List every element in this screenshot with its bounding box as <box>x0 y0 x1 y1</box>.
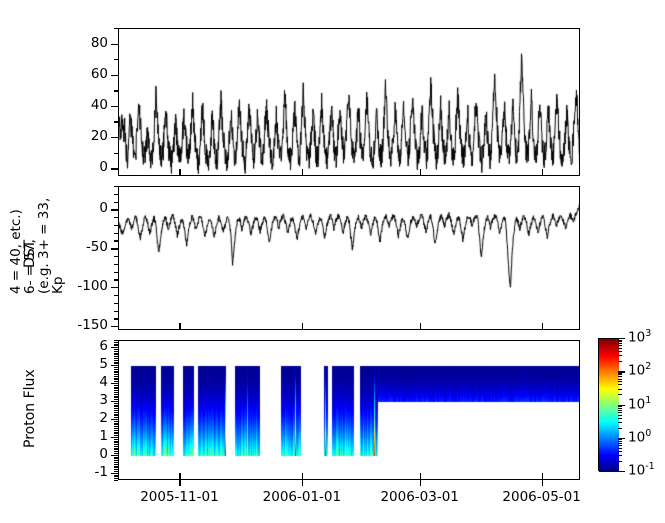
axis-tick-mark <box>618 361 622 362</box>
axis-tick-mark <box>114 233 118 234</box>
y-tick-label: 4 <box>99 374 108 390</box>
axis-tick-mark <box>420 480 421 486</box>
colorbar-tick-label: 103 <box>628 328 651 346</box>
axis-tick-mark <box>302 169 303 176</box>
axis-tick-mark <box>114 59 118 60</box>
axis-tick-mark <box>542 323 543 330</box>
axis-tick-mark <box>618 341 622 342</box>
axis-tick-mark <box>114 379 118 380</box>
axis-tick-mark <box>114 442 118 443</box>
axis-tick-mark <box>618 471 625 472</box>
axis-tick-mark <box>114 426 118 427</box>
axis-tick-mark <box>114 342 118 343</box>
axis-tick-mark <box>114 471 118 472</box>
dst-axis-title: DST <box>22 240 38 268</box>
proton-axis-title: Proton Flux <box>22 369 38 448</box>
axis-tick-mark <box>114 449 118 450</box>
axis-tick-mark <box>114 295 118 296</box>
axis-tick-mark <box>114 256 118 257</box>
y-tick-label: 6 <box>99 338 108 354</box>
axis-tick-mark <box>618 410 622 411</box>
axis-tick-mark <box>114 397 118 398</box>
axis-tick-mark <box>114 439 118 440</box>
colorbar-tick-label: 102 <box>628 361 651 379</box>
axis-tick-mark <box>114 451 118 452</box>
axis-tick-mark <box>114 351 118 352</box>
axis-tick-mark <box>618 389 622 390</box>
axis-tick-mark <box>114 311 118 312</box>
axis-tick-mark <box>114 458 118 459</box>
axis-tick-mark <box>618 348 622 349</box>
axis-tick-mark <box>114 457 118 458</box>
y-tick-label: 0 <box>99 159 108 175</box>
axis-tick-mark <box>114 387 118 388</box>
kp-plot-area <box>118 28 580 176</box>
y-tick-label: 1 <box>99 428 108 444</box>
axis-tick-mark <box>114 279 118 280</box>
axis-tick-mark <box>114 354 118 355</box>
axis-tick-mark <box>111 75 118 76</box>
y-tick-label: 5 <box>99 356 108 372</box>
axis-tick-mark <box>542 480 543 486</box>
axis-tick-mark <box>114 464 118 465</box>
y-tick-label: 2 <box>99 410 108 426</box>
axis-tick-mark <box>114 410 118 411</box>
axis-tick-mark <box>114 340 118 341</box>
axis-tick-mark <box>114 264 118 265</box>
axis-tick-mark <box>618 384 622 385</box>
axis-tick-mark <box>114 412 118 413</box>
axis-tick-mark <box>618 445 622 446</box>
axis-tick-mark <box>618 379 622 380</box>
y-tick-label: 3 <box>99 392 108 408</box>
kp-title-line-1: (e.g. 3+ = 33, <box>36 198 52 294</box>
axis-tick-mark <box>179 480 180 486</box>
axis-tick-mark <box>114 385 118 386</box>
dst-plot-area <box>118 186 580 330</box>
axis-tick-mark <box>114 424 118 425</box>
axis-tick-mark <box>114 417 118 418</box>
axis-tick-mark <box>618 394 622 395</box>
axis-tick-mark <box>618 415 622 416</box>
axis-tick-mark <box>114 318 118 319</box>
axis-tick-mark <box>114 360 118 361</box>
axis-tick-mark <box>114 374 118 375</box>
axis-tick-mark <box>420 169 421 176</box>
axis-tick-mark <box>111 326 118 327</box>
axis-tick-mark <box>302 473 303 480</box>
axis-tick-mark <box>114 121 118 122</box>
axis-tick-mark <box>111 287 118 288</box>
axis-tick-mark <box>114 186 118 187</box>
axis-tick-mark <box>114 480 118 481</box>
axis-tick-mark <box>114 362 118 363</box>
axis-tick-mark <box>114 356 118 357</box>
axis-tick-mark <box>114 372 118 373</box>
axis-tick-mark <box>114 90 118 91</box>
axis-tick-mark <box>114 390 118 391</box>
axis-tick-mark <box>618 373 622 374</box>
axis-tick-mark <box>114 444 118 445</box>
axis-tick-mark <box>114 430 118 431</box>
space-weather-figure: Kp (e.g. 3+ = 33, 6- = 57, 4 = 40, etc.)… <box>0 0 665 523</box>
axis-tick-mark <box>114 453 118 454</box>
axis-tick-mark <box>114 303 118 304</box>
axis-tick-mark <box>111 168 118 169</box>
y-tick-label: -50 <box>86 239 108 255</box>
y-tick-label: 80 <box>91 35 108 51</box>
axis-tick-mark <box>114 399 118 400</box>
axis-tick-mark <box>114 446 118 447</box>
y-tick-label: 0 <box>99 200 108 216</box>
axis-tick-mark <box>114 272 118 273</box>
axis-tick-mark <box>111 106 118 107</box>
axis-tick-mark <box>114 394 118 395</box>
axis-tick-mark <box>111 248 118 249</box>
axis-tick-mark <box>114 421 118 422</box>
axis-tick-mark <box>618 439 622 440</box>
axis-tick-mark <box>114 240 118 241</box>
x-tick-label: 2006-03-01 <box>370 489 470 505</box>
axis-tick-mark <box>114 462 118 463</box>
axis-tick-mark <box>114 441 118 442</box>
axis-tick-mark <box>618 351 622 352</box>
axis-tick-mark <box>618 381 622 382</box>
axis-tick-mark <box>618 461 622 462</box>
axis-tick-mark <box>114 378 118 379</box>
axis-tick-mark <box>618 451 622 452</box>
axis-tick-mark <box>114 353 118 354</box>
y-tick-label: 20 <box>91 128 108 144</box>
axis-tick-mark <box>618 448 622 449</box>
axis-tick-mark <box>114 202 118 203</box>
axis-tick-mark <box>114 153 118 154</box>
axis-tick-mark <box>618 343 622 344</box>
proton-flux-plot-area <box>118 340 580 480</box>
x-tick-label: 2006-01-01 <box>252 489 352 505</box>
axis-tick-mark <box>618 345 622 346</box>
axis-tick-mark <box>114 428 118 429</box>
axis-tick-mark <box>179 169 180 176</box>
axis-tick-mark <box>302 323 303 330</box>
axis-tick-mark <box>542 169 543 176</box>
axis-tick-mark <box>114 349 118 350</box>
axis-tick-mark <box>114 478 118 479</box>
axis-tick-mark <box>114 415 118 416</box>
axis-tick-mark <box>618 355 622 356</box>
axis-tick-mark <box>114 363 118 364</box>
axis-tick-mark <box>111 209 118 210</box>
axis-tick-mark <box>420 323 421 330</box>
colorbar-tick-label: 101 <box>628 395 651 413</box>
axis-tick-mark <box>114 414 118 415</box>
axis-tick-mark <box>114 345 118 346</box>
axis-tick-mark <box>114 225 118 226</box>
axis-tick-mark <box>618 428 622 429</box>
axis-tick-mark <box>114 28 118 29</box>
axis-tick-mark <box>114 369 118 370</box>
axis-tick-mark <box>114 466 118 467</box>
axis-tick-mark <box>618 406 622 407</box>
axis-tick-mark <box>114 408 118 409</box>
axis-tick-mark <box>114 217 118 218</box>
axis-tick-mark <box>114 396 118 397</box>
y-tick-label: -150 <box>77 317 108 333</box>
colorbar-tick-label: 10-1 <box>628 461 655 479</box>
y-tick-label: 40 <box>91 97 108 113</box>
axis-tick-mark <box>618 408 622 409</box>
axis-tick-mark <box>114 469 118 470</box>
axis-tick-mark <box>618 376 622 377</box>
colorbar <box>598 338 618 471</box>
axis-tick-mark <box>618 443 622 444</box>
axis-tick-mark <box>114 405 118 406</box>
axis-tick-mark <box>114 358 118 359</box>
axis-tick-mark <box>114 376 118 377</box>
axis-tick-mark <box>114 367 118 368</box>
axis-tick-mark <box>114 194 118 195</box>
axis-tick-mark <box>302 480 303 486</box>
axis-tick-mark <box>114 433 118 434</box>
y-tick-label: 0 <box>99 446 108 462</box>
axis-tick-mark <box>114 392 118 393</box>
axis-tick-mark <box>114 435 118 436</box>
axis-tick-mark <box>618 422 622 423</box>
axis-tick-mark <box>618 374 622 375</box>
axis-tick-mark <box>114 423 118 424</box>
axis-tick-mark <box>114 403 118 404</box>
axis-tick-mark <box>114 344 118 345</box>
axis-tick-mark <box>111 137 118 138</box>
axis-tick-mark <box>618 441 622 442</box>
axis-tick-mark <box>114 406 118 407</box>
axis-tick-mark <box>114 460 118 461</box>
colorbar-tick-label: 100 <box>628 428 651 446</box>
axis-tick-mark <box>114 371 118 372</box>
x-tick-label: 2005-11-01 <box>129 489 229 505</box>
axis-tick-mark <box>179 473 180 480</box>
axis-tick-mark <box>114 381 118 382</box>
axis-tick-mark <box>618 340 622 341</box>
y-tick-label: 60 <box>91 66 108 82</box>
axis-tick-mark <box>618 412 622 413</box>
axis-tick-mark <box>114 388 118 389</box>
axis-tick-mark <box>114 476 118 477</box>
axis-tick-mark <box>111 44 118 45</box>
kp-title-line-0: Kp <box>50 277 66 294</box>
axis-tick-mark <box>618 455 622 456</box>
y-tick-label: -100 <box>77 278 108 294</box>
axis-tick-mark <box>420 473 421 480</box>
axis-tick-mark <box>114 448 118 449</box>
axis-tick-mark <box>114 467 118 468</box>
axis-tick-mark <box>179 323 180 330</box>
y-tick-label: -1 <box>95 464 108 480</box>
x-tick-label: 2006-05-01 <box>492 489 592 505</box>
axis-tick-mark <box>618 418 622 419</box>
axis-tick-mark <box>114 432 118 433</box>
axis-tick-mark <box>542 473 543 480</box>
axis-tick-mark <box>114 475 118 476</box>
